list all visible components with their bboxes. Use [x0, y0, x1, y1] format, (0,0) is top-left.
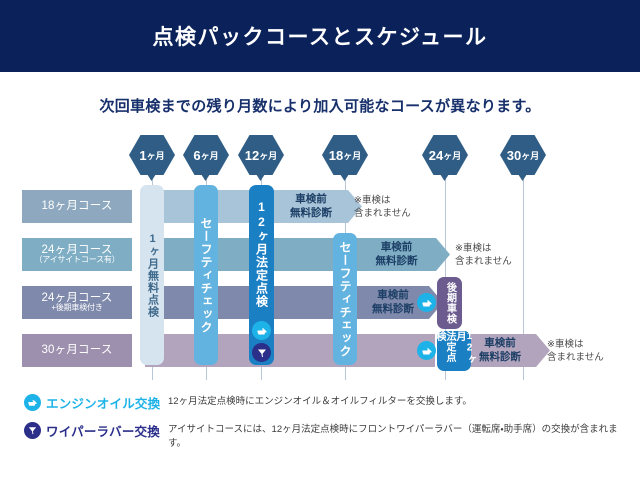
service-block-legal-12m-row4: 法定点検 12ヶ月	[437, 331, 471, 371]
pre-inspection-arrow-18m: 車検前 無料診断	[272, 190, 362, 223]
course-label-30m: 30ヶ月コース	[22, 334, 132, 367]
timeline-band-30m	[145, 334, 435, 367]
month-marker-12-tip	[256, 174, 265, 181]
pre-inspection-text-24m-late: 車検前 無料診断	[372, 289, 414, 315]
month-marker-6-unit: ヶ月	[201, 149, 219, 162]
service-block-legal-12m-row4-b: 12ヶ月	[454, 331, 474, 371]
note-no-inspection-30m: ※車検は 含まれません	[547, 339, 604, 365]
course-row-18m: 18ヶ月コース 車検前 無料診断 ※車検は 含まれません	[0, 190, 640, 223]
oil-can-icon	[256, 325, 268, 337]
month-marker-30-tip	[518, 174, 527, 181]
service-block-safety-check-6m: セーフティチェック	[194, 185, 218, 365]
schedule-chart: 1ヶ月 6ヶ月 12ヶ月 18ヶ月 24ヶ月 30ヶ月 18ヶ月コース	[0, 135, 640, 380]
course-label-18m-main: 18ヶ月コース	[41, 200, 112, 213]
month-marker-18: 18ヶ月	[322, 135, 368, 175]
month-marker-12-value: 12	[245, 148, 259, 163]
legend-item-wiper: ワイパーラバー交換 アイサイトコースには、12ヶ月法定点検時にフロントワイパーラ…	[0, 420, 640, 442]
subtitle: 次回車検までの残り月数により加入可能なコースが異なります。	[0, 95, 640, 116]
month-marker-6: 6ヶ月	[183, 135, 229, 175]
oil-change-icon-24m-late	[417, 293, 436, 312]
course-label-24m-late: 24ヶ月コース +後期車検付き	[22, 286, 132, 319]
month-marker-12: 12ヶ月	[238, 135, 284, 175]
month-marker-1: 1ヶ月	[129, 135, 175, 175]
month-marker-18-value: 18	[329, 148, 343, 163]
month-marker-30: 30ヶ月	[500, 135, 546, 175]
oil-can-icon	[27, 397, 38, 408]
oil-can-icon	[421, 345, 433, 357]
pre-inspection-text-18m: 車検前 無料診断	[290, 193, 332, 219]
service-block-safety-check-18m: セーフティチェック	[333, 233, 357, 365]
month-marker-24-tip	[440, 174, 449, 181]
service-block-legal-12m-label: 12ヶ月法定点検	[256, 200, 268, 308]
month-marker-30-unit: ヶ月	[521, 149, 539, 162]
course-row-24m-eyesight: 24ヶ月コース （アイサイトコース有） 車検前 無料診断 ※車検は 含まれません	[0, 238, 640, 271]
wiper-blade-icon	[27, 425, 38, 436]
course-label-30m-main: 30ヶ月コース	[41, 344, 112, 357]
pre-inspection-text-24m-eyesight: 車検前 無料診断	[376, 241, 418, 267]
page-header: 点検パックコースとスケジュール	[0, 0, 640, 72]
month-marker-24: 24ヶ月	[422, 135, 468, 175]
course-label-24m-eyesight-sub: （アイサイトコース有）	[35, 256, 120, 265]
legend-wiper-icon-wrap	[24, 422, 41, 439]
month-marker-24-unit: ヶ月	[443, 149, 461, 162]
oil-change-icon-12m	[252, 321, 271, 340]
month-marker-6-tip	[201, 174, 210, 181]
month-marker-18-unit: ヶ月	[343, 149, 361, 162]
service-block-1m-free-check-label: 1ヶ月無料点検	[147, 233, 158, 318]
legend-oil-name: エンジンオイル交換	[46, 393, 160, 412]
note-no-inspection-24m-eyesight: ※車検は 含まれません	[455, 243, 512, 269]
course-label-24m-late-sub: +後期車検付き	[51, 304, 102, 313]
pre-inspection-arrow-30m: 車検前 無料診断	[462, 334, 550, 367]
month-marker-24-value: 24	[429, 148, 443, 163]
course-row-24m-late: 24ヶ月コース +後期車検付き 車検前 無料診断	[0, 286, 640, 319]
service-block-1m-free-check: 1ヶ月無料点検	[140, 185, 164, 365]
page-title: 点検パックコースとスケジュール	[153, 21, 488, 51]
legend-oil-desc: 12ヶ月法定点検時にエンジンオイル＆オイルフィルターを交換します。	[168, 395, 628, 409]
pre-inspection-text-30m: 車検前 無料診断	[479, 337, 521, 363]
note-no-inspection-18m: ※車検は 含まれません	[354, 195, 411, 221]
month-marker-1-value: 1	[139, 148, 146, 163]
service-block-safety-check-18m-label: セーフティチェック	[339, 241, 351, 358]
legend-wiper-name: ワイパーラバー交換	[46, 421, 160, 440]
legend-wiper-desc: アイサイトコースには、12ヶ月法定点検時にフロントワイパーラバー（運転席・助手席…	[168, 423, 628, 451]
legend-oil-icon-wrap	[24, 394, 41, 411]
service-block-legal-12m-row4-a: 法定点検	[434, 331, 454, 371]
month-marker-18-tip	[340, 174, 349, 181]
month-marker-1-unit: ヶ月	[147, 149, 165, 162]
wiper-blade-icon	[256, 347, 268, 359]
month-marker-6-value: 6	[193, 148, 200, 163]
legend: エンジンオイル交換 12ヶ月法定点検時にエンジンオイル＆オイルフィルターを交換し…	[0, 392, 640, 442]
service-block-safety-check-6m-label: セーフティチェック	[200, 217, 212, 334]
course-row-30m: 30ヶ月コース 車検前 無料診断 ※車検は 含まれません	[0, 334, 640, 367]
oil-can-icon	[421, 297, 433, 309]
legend-item-oil: エンジンオイル交換 12ヶ月法定点検時にエンジンオイル＆オイルフィルターを交換し…	[0, 392, 640, 414]
month-marker-30-value: 30	[507, 148, 521, 163]
infographic-page: 点検パックコースとスケジュール 次回車検までの残り月数により加入可能なコースが異…	[0, 0, 640, 480]
course-label-18m: 18ヶ月コース	[22, 190, 132, 223]
month-marker-1-tip	[147, 174, 156, 181]
service-block-late-inspection-label: 後期車検	[445, 282, 455, 324]
wiper-change-icon-12m	[252, 343, 271, 362]
course-label-24m-eyesight: 24ヶ月コース （アイサイトコース有）	[22, 238, 132, 271]
pre-inspection-arrow-24m-eyesight: 車検前 無料診断	[355, 238, 450, 271]
service-block-late-inspection: 後期車検	[437, 277, 462, 329]
month-marker-12-unit: ヶ月	[259, 149, 277, 162]
